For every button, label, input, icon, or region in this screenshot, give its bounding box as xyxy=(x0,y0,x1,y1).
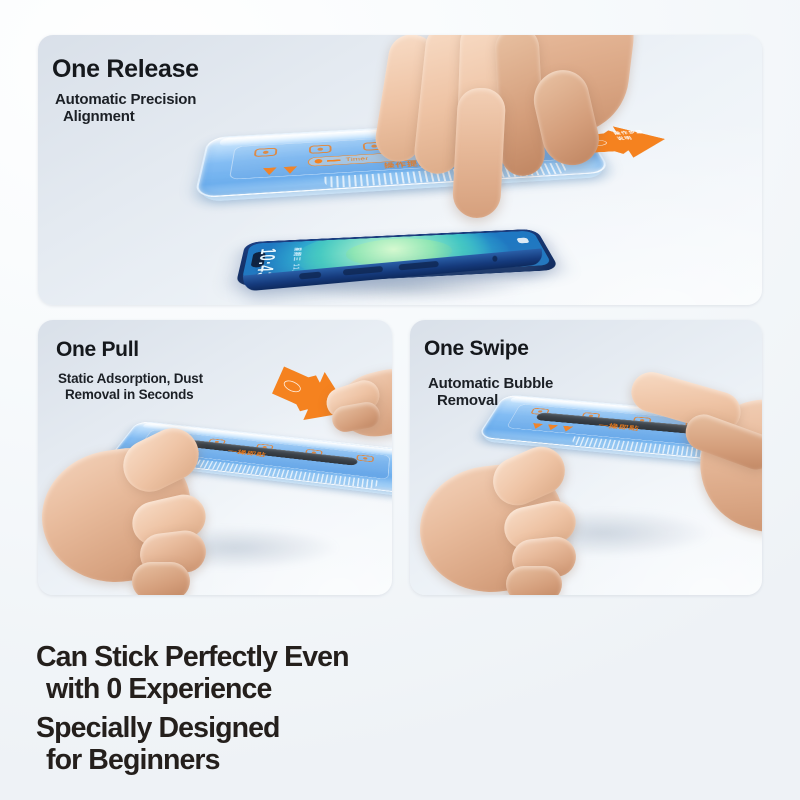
caption-subheading-line2: Removal xyxy=(437,392,553,409)
tray-icon-glyph xyxy=(356,454,374,462)
phone-speaker-grille xyxy=(399,261,439,271)
tray-pill-label: Timer xyxy=(345,156,368,163)
caption-subheading-line2: Alignment xyxy=(63,108,199,125)
tray-pill-dot xyxy=(315,159,323,164)
headline-line-1: Can Stick Perfectly Even xyxy=(36,642,506,674)
phone-port xyxy=(299,272,321,280)
caption-subheading-line1: Automatic Bubble xyxy=(428,375,553,392)
caption-heading: One Pull xyxy=(56,338,203,362)
tray-icon-glyph xyxy=(254,148,278,157)
tray-bolt-icon xyxy=(530,423,543,429)
finger xyxy=(132,562,190,595)
caption-subheading-line1: Static Adsorption, Dust xyxy=(58,371,203,387)
caption-subheading-line1: Automatic Precision xyxy=(55,91,199,108)
caption-heading: One Swipe xyxy=(424,337,553,361)
phone-microphone xyxy=(492,256,498,262)
caption-subheading-line2: Removal in Seconds xyxy=(65,387,203,403)
tray-bolt-row xyxy=(262,166,297,175)
tray-icon-glyph xyxy=(309,145,332,154)
bottom-headline: Can Stick Perfectly Even with 0 Experien… xyxy=(36,642,506,777)
tray-bolt-icon xyxy=(545,425,558,431)
hand-swiping-bubbles xyxy=(658,366,762,526)
flashlight-icon[interactable] xyxy=(516,237,529,243)
hand-pulling-tab xyxy=(322,368,392,448)
index-finger-pressing xyxy=(452,87,507,219)
phone-speaker-grille xyxy=(343,266,383,276)
tray-bolt-row xyxy=(530,423,573,432)
tray-bolt-icon xyxy=(561,426,574,432)
tray-pill-bar xyxy=(327,159,340,161)
hand-holding-tray xyxy=(418,452,618,595)
caption-one-swipe: One Swipe Automatic Bubble Removal xyxy=(424,337,553,410)
headline-line-4: for Beginners xyxy=(36,745,506,777)
caption-one-pull: One Pull Static Adsorption, Dust Removal… xyxy=(56,338,203,402)
headline-line-3: Specially Designed xyxy=(36,713,506,745)
headline-line-2: with 0 Experience xyxy=(36,674,506,706)
finger xyxy=(506,566,562,595)
tray-bolt-icon xyxy=(262,168,276,176)
hand-holding-tray xyxy=(38,440,246,595)
tray-bolt-icon xyxy=(283,166,297,174)
caption-one-release: One Release Automatic Precision Alignmen… xyxy=(52,55,199,126)
caption-heading: One Release xyxy=(52,55,199,84)
product-infographic: Timer 操作提示 操作步驤说明 xyxy=(0,0,800,800)
